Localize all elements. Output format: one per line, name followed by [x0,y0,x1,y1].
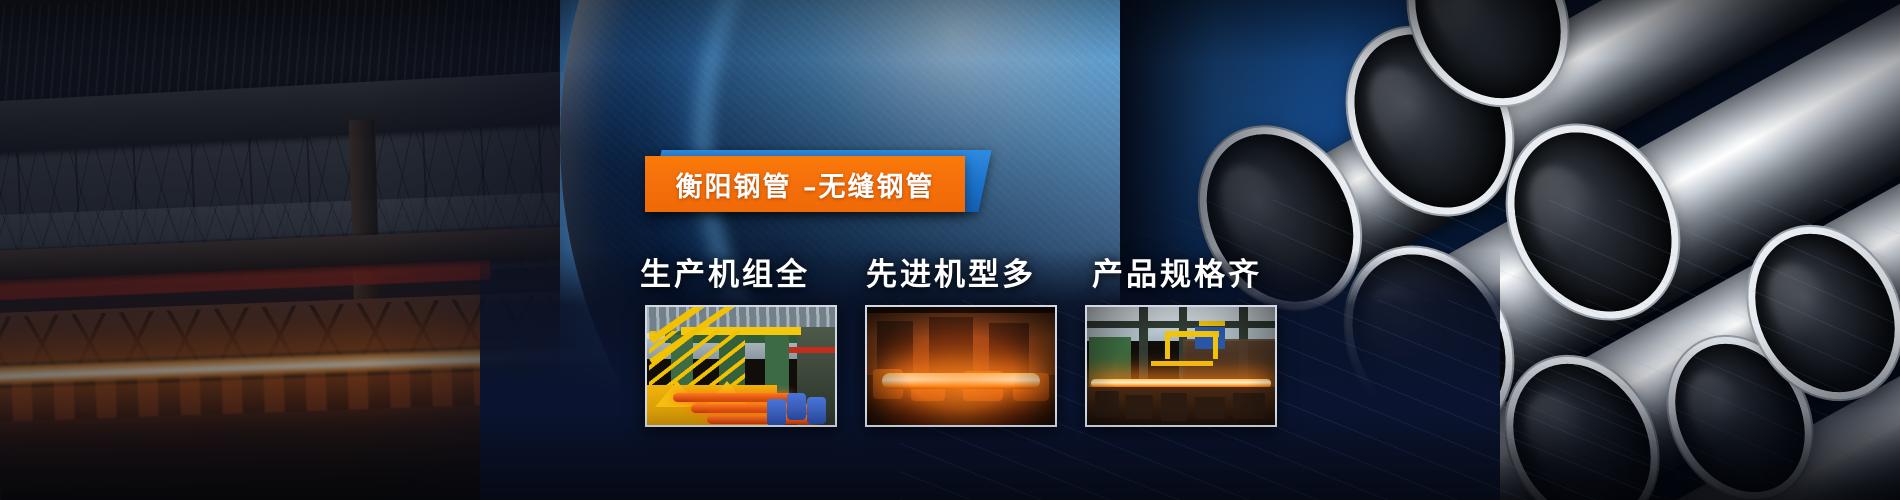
hero-banner: 衡阳钢管 –无缝钢管 生产机组全 先进机型多 产品规格齐 [0,0,1900,500]
thumb2-vignette [867,307,1055,425]
thumb3-vignette [1087,307,1275,425]
tagline-item-3: 产品规格齐 [1092,249,1262,294]
headline-plate: 衡阳钢管 –无缝钢管 [645,150,985,212]
thumbnail-row [645,305,1277,427]
thumb1-blue-motor [767,399,786,426]
thumb1-blue-motor [807,397,826,424]
headline-text: 衡阳钢管 –无缝钢管 [676,165,935,204]
headline-orange-box: 衡阳钢管 –无缝钢管 [645,156,965,212]
tagline-item-1: 生产机组全 [640,249,810,294]
thumbnail-hot-rolling-stand[interactable] [865,305,1057,427]
thumbnail-rolling-mill-hall[interactable] [645,305,837,427]
thumb1-red-crane [787,347,835,353]
thumbnail-continuous-casting-line[interactable] [1085,305,1277,427]
banner-content: 衡阳钢管 –无缝钢管 生产机组全 先进机型多 产品规格齐 [0,0,1900,500]
tagline-item-2: 先进机型多 [866,249,1036,294]
thumb1-blue-motor [787,393,806,420]
tagline-row: 生产机组全 先进机型多 产品规格齐 [640,248,1400,294]
